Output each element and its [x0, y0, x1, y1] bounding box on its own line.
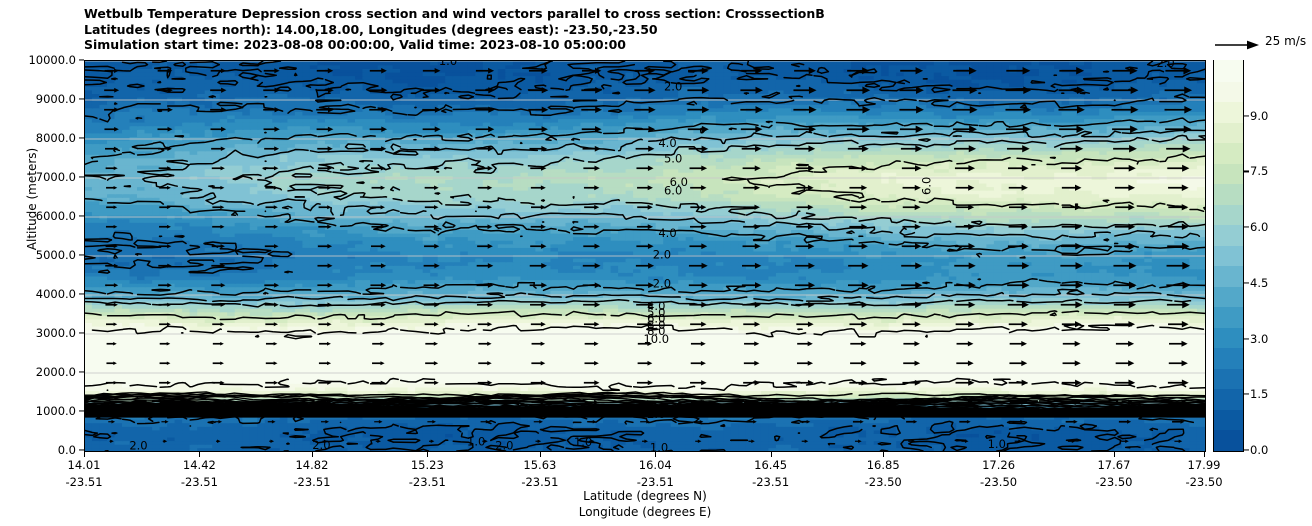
x-tick-mark — [883, 452, 884, 457]
colorbar — [1213, 60, 1244, 452]
colorbar-segment — [1214, 183, 1243, 205]
x-axis-label-longitude: Longitude (degrees E) — [84, 505, 1206, 519]
y-tick-mark — [79, 371, 84, 372]
y-tick-label: 2000.0 — [36, 365, 76, 379]
x-tick-label-longitude: -23.51 — [752, 475, 789, 489]
colorbar-segment — [1214, 122, 1243, 144]
x-tick-label-latitude: 17.67 — [1097, 458, 1130, 472]
x-tick-label-longitude: -23.50 — [1095, 475, 1132, 489]
y-tick-mark — [79, 59, 84, 60]
x-tick-mark — [199, 452, 200, 457]
colorbar-tick-mark — [1244, 171, 1249, 172]
colorbar-segment — [1214, 388, 1243, 410]
x-tick-label-latitude: 14.01 — [68, 458, 101, 472]
x-tick-mark — [999, 452, 1000, 457]
colorbar-tick-label: 9.0 — [1250, 109, 1268, 123]
colorbar-tick-mark — [1244, 338, 1249, 339]
y-tick-label: 3000.0 — [36, 326, 76, 340]
colorbar-ticks: 0.01.53.04.56.07.59.0 — [1244, 60, 1304, 452]
y-tick-label: 4000.0 — [36, 287, 76, 301]
colorbar-tick-mark — [1244, 227, 1249, 228]
colorbar-segment — [1214, 368, 1243, 390]
y-tick-label: 1000.0 — [36, 404, 76, 418]
title-line-2: Latitudes (degrees north): 14.00,18.00, … — [84, 22, 1184, 38]
y-tick-mark — [79, 332, 84, 333]
y-tick-label: 7000.0 — [36, 170, 76, 184]
y-axis: 0.01000.02000.03000.04000.05000.06000.07… — [0, 60, 84, 452]
x-tick-mark — [1114, 452, 1115, 457]
y-tick-mark — [79, 449, 84, 450]
plot-canvas: 1.02.02.04.05.06.06.06.04.02.02.04.05.06… — [85, 61, 1205, 451]
colorbar-gradient — [1214, 61, 1243, 451]
colorbar-segment — [1214, 409, 1243, 431]
colorbar-segment — [1214, 265, 1243, 287]
x-tick-label-longitude: -23.51 — [293, 475, 330, 489]
y-tick-mark — [79, 410, 84, 411]
x-tick-mark — [427, 452, 428, 457]
colorbar-segment — [1214, 306, 1243, 328]
y-tick-label: 8000.0 — [36, 131, 76, 145]
x-tick-label-latitude: 15.23 — [411, 458, 444, 472]
x-tick-label-latitude: 16.45 — [754, 458, 787, 472]
colorbar-tick-label: 0.0 — [1250, 443, 1268, 457]
y-tick-mark — [79, 137, 84, 138]
colorbar-tick-mark — [1244, 282, 1249, 283]
colorbar-tick-mark — [1244, 394, 1249, 395]
x-axis-label-latitude: Latitude (degrees N) — [84, 489, 1206, 503]
colorbar-tick-label: 6.0 — [1250, 220, 1268, 234]
colorbar-segment — [1214, 327, 1243, 349]
x-tick-label-latitude: 15.63 — [523, 458, 556, 472]
cross-section-plot[interactable]: 1.02.02.04.05.06.06.06.04.02.02.04.05.06… — [84, 60, 1206, 452]
y-tick-mark — [79, 293, 84, 294]
x-tick-label-longitude: -23.51 — [637, 475, 674, 489]
colorbar-segment — [1214, 224, 1243, 246]
x-tick-label-longitude: -23.50 — [865, 475, 902, 489]
x-tick-label-latitude: 14.42 — [183, 458, 216, 472]
x-tick-label-longitude: -23.50 — [980, 475, 1017, 489]
colorbar-tick-mark — [1244, 115, 1249, 116]
title-line-1: Wetbulb Temperature Depression cross sec… — [84, 6, 1184, 22]
colorbar-segment — [1214, 286, 1243, 308]
chart-title-block: Wetbulb Temperature Depression cross sec… — [84, 6, 1184, 53]
colorbar-segment — [1214, 60, 1243, 82]
x-tick-label-longitude: -23.51 — [181, 475, 218, 489]
x-tick-label-latitude: 16.85 — [867, 458, 900, 472]
x-tick-label-latitude: 17.99 — [1188, 458, 1221, 472]
wind-vector-key: 25 m/s — [1213, 34, 1312, 56]
x-tick-mark — [771, 452, 772, 457]
x-tick-label-latitude: 16.04 — [639, 458, 672, 472]
x-tick-label-longitude: -23.51 — [521, 475, 558, 489]
colorbar-segment — [1214, 245, 1243, 267]
colorbar-segment — [1214, 101, 1243, 123]
colorbar-tick-label: 1.5 — [1250, 387, 1268, 401]
x-tick-label-longitude: -23.50 — [1185, 475, 1222, 489]
x-tick-mark — [655, 452, 656, 457]
colorbar-tick-label: 3.0 — [1250, 332, 1268, 346]
colorbar-segment — [1214, 347, 1243, 369]
y-tick-label: 10000.0 — [28, 53, 76, 67]
x-tick-mark — [312, 452, 313, 457]
colorbar-tick-label: 4.5 — [1250, 276, 1268, 290]
y-axis-label: Altitude (meters) — [25, 79, 39, 319]
colorbar-segment — [1214, 142, 1243, 164]
x-tick-mark — [84, 452, 85, 457]
x-tick-label-longitude: -23.51 — [409, 475, 446, 489]
x-tick-label-longitude: -23.51 — [65, 475, 102, 489]
x-tick-label-latitude: 14.82 — [295, 458, 328, 472]
y-tick-mark — [79, 176, 84, 177]
x-tick-mark — [540, 452, 541, 457]
y-tick-label: 6000.0 — [36, 209, 76, 223]
y-tick-label: 0.0 — [58, 443, 76, 457]
colorbar-segment — [1214, 81, 1243, 103]
colorbar-segment — [1214, 204, 1243, 226]
arrow-right-icon — [1213, 38, 1261, 52]
y-tick-mark — [79, 254, 84, 255]
colorbar-tick-mark — [1244, 449, 1249, 450]
y-tick-label: 9000.0 — [36, 92, 76, 106]
plot-inner: 1.02.02.04.05.06.06.06.04.02.02.04.05.06… — [85, 61, 1205, 451]
y-tick-mark — [79, 215, 84, 216]
colorbar-segment — [1214, 430, 1243, 452]
colorbar-segment — [1214, 163, 1243, 185]
x-tick-mark — [1204, 452, 1205, 457]
y-tick-label: 5000.0 — [36, 248, 76, 262]
x-tick-label-latitude: 17.26 — [982, 458, 1015, 472]
wind-key-label: 25 m/s — [1265, 34, 1306, 48]
title-line-3: Simulation start time: 2023-08-08 00:00:… — [84, 37, 1184, 53]
y-tick-mark — [79, 98, 84, 99]
colorbar-tick-label: 7.5 — [1250, 164, 1268, 178]
